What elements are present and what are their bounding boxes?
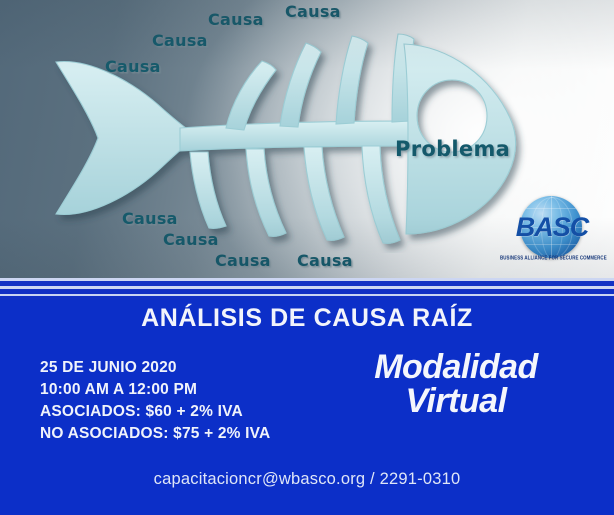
event-flyer: Causa Causa Causa Causa Causa Causa Caus…	[0, 0, 614, 515]
cause-label: Causa	[208, 10, 264, 29]
problem-label: Problema	[395, 137, 510, 161]
modality-line-1: Modalidad	[316, 350, 596, 384]
modality-line-2: Virtual	[316, 384, 596, 418]
basc-tagline: BUSINESS ALLIANCE FOR SECURE COMMERCE	[500, 254, 604, 260]
price-non-members: NO ASOCIADOS: $75 + 2% IVA	[40, 423, 270, 445]
cause-label: Causa	[105, 57, 161, 76]
cause-label: Causa	[163, 230, 219, 249]
cause-label: Causa	[215, 251, 271, 270]
event-info-panel: ANÁLISIS DE CAUSA RAÍZ 25 DE JUNIO 2020 …	[0, 300, 614, 515]
fish-rib-upper-1	[226, 61, 276, 130]
event-title: ANÁLISIS DE CAUSA RAÍZ	[0, 304, 614, 333]
contact-info: capacitacioncr@wbasco.org / 2291-0310	[0, 470, 614, 489]
divider-bands	[0, 278, 614, 300]
basc-wordmark: BASC	[506, 212, 598, 243]
cause-label: Causa	[285, 2, 341, 21]
fish-rib-lower-3	[304, 147, 344, 240]
cause-label: Causa	[297, 251, 353, 270]
fish-rib-lower-2	[246, 149, 286, 236]
event-modality: Modalidad Virtual	[316, 350, 596, 418]
event-details-list: 25 DE JUNIO 2020 10:00 AM A 12:00 PM ASO…	[40, 357, 270, 445]
cause-label: Causa	[152, 31, 208, 50]
price-members: ASOCIADOS: $60 + 2% IVA	[40, 401, 270, 423]
fish-rib-upper-2	[280, 43, 321, 127]
event-date: 25 DE JUNIO 2020	[40, 357, 270, 379]
cause-label: Causa	[122, 209, 178, 228]
basc-logo: BASC BUSINESS ALLIANCE FOR SECURE COMMER…	[500, 196, 604, 274]
event-time: 10:00 AM A 12:00 PM	[40, 379, 270, 401]
fish-tail	[56, 62, 198, 215]
fish-rib-lower-1	[190, 152, 226, 228]
fish-rib-upper-3	[336, 36, 368, 124]
fishbone-hero-image: Causa Causa Causa Causa Causa Causa Caus…	[0, 0, 614, 278]
